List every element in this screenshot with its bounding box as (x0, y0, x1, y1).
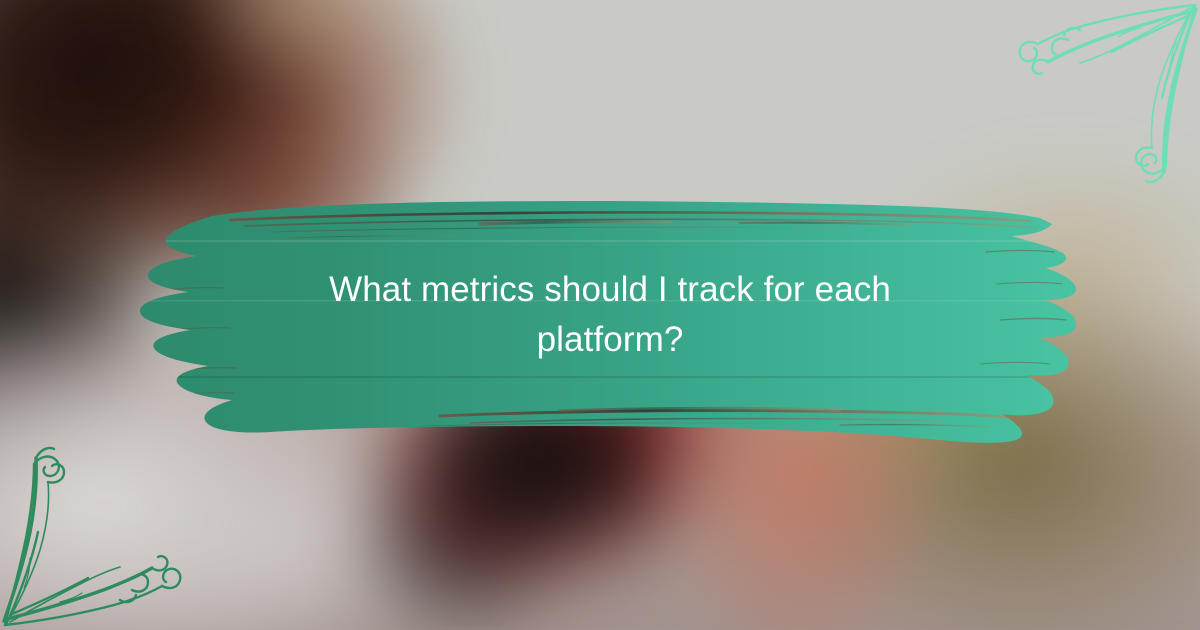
headline-banner: What metrics should I track for each pla… (140, 180, 1080, 450)
headline-text-block: What metrics should I track for each pla… (140, 180, 1080, 450)
page-title: What metrics should I track for each pla… (290, 265, 930, 364)
social-card-canvas: What metrics should I track for each pla… (0, 0, 1200, 630)
